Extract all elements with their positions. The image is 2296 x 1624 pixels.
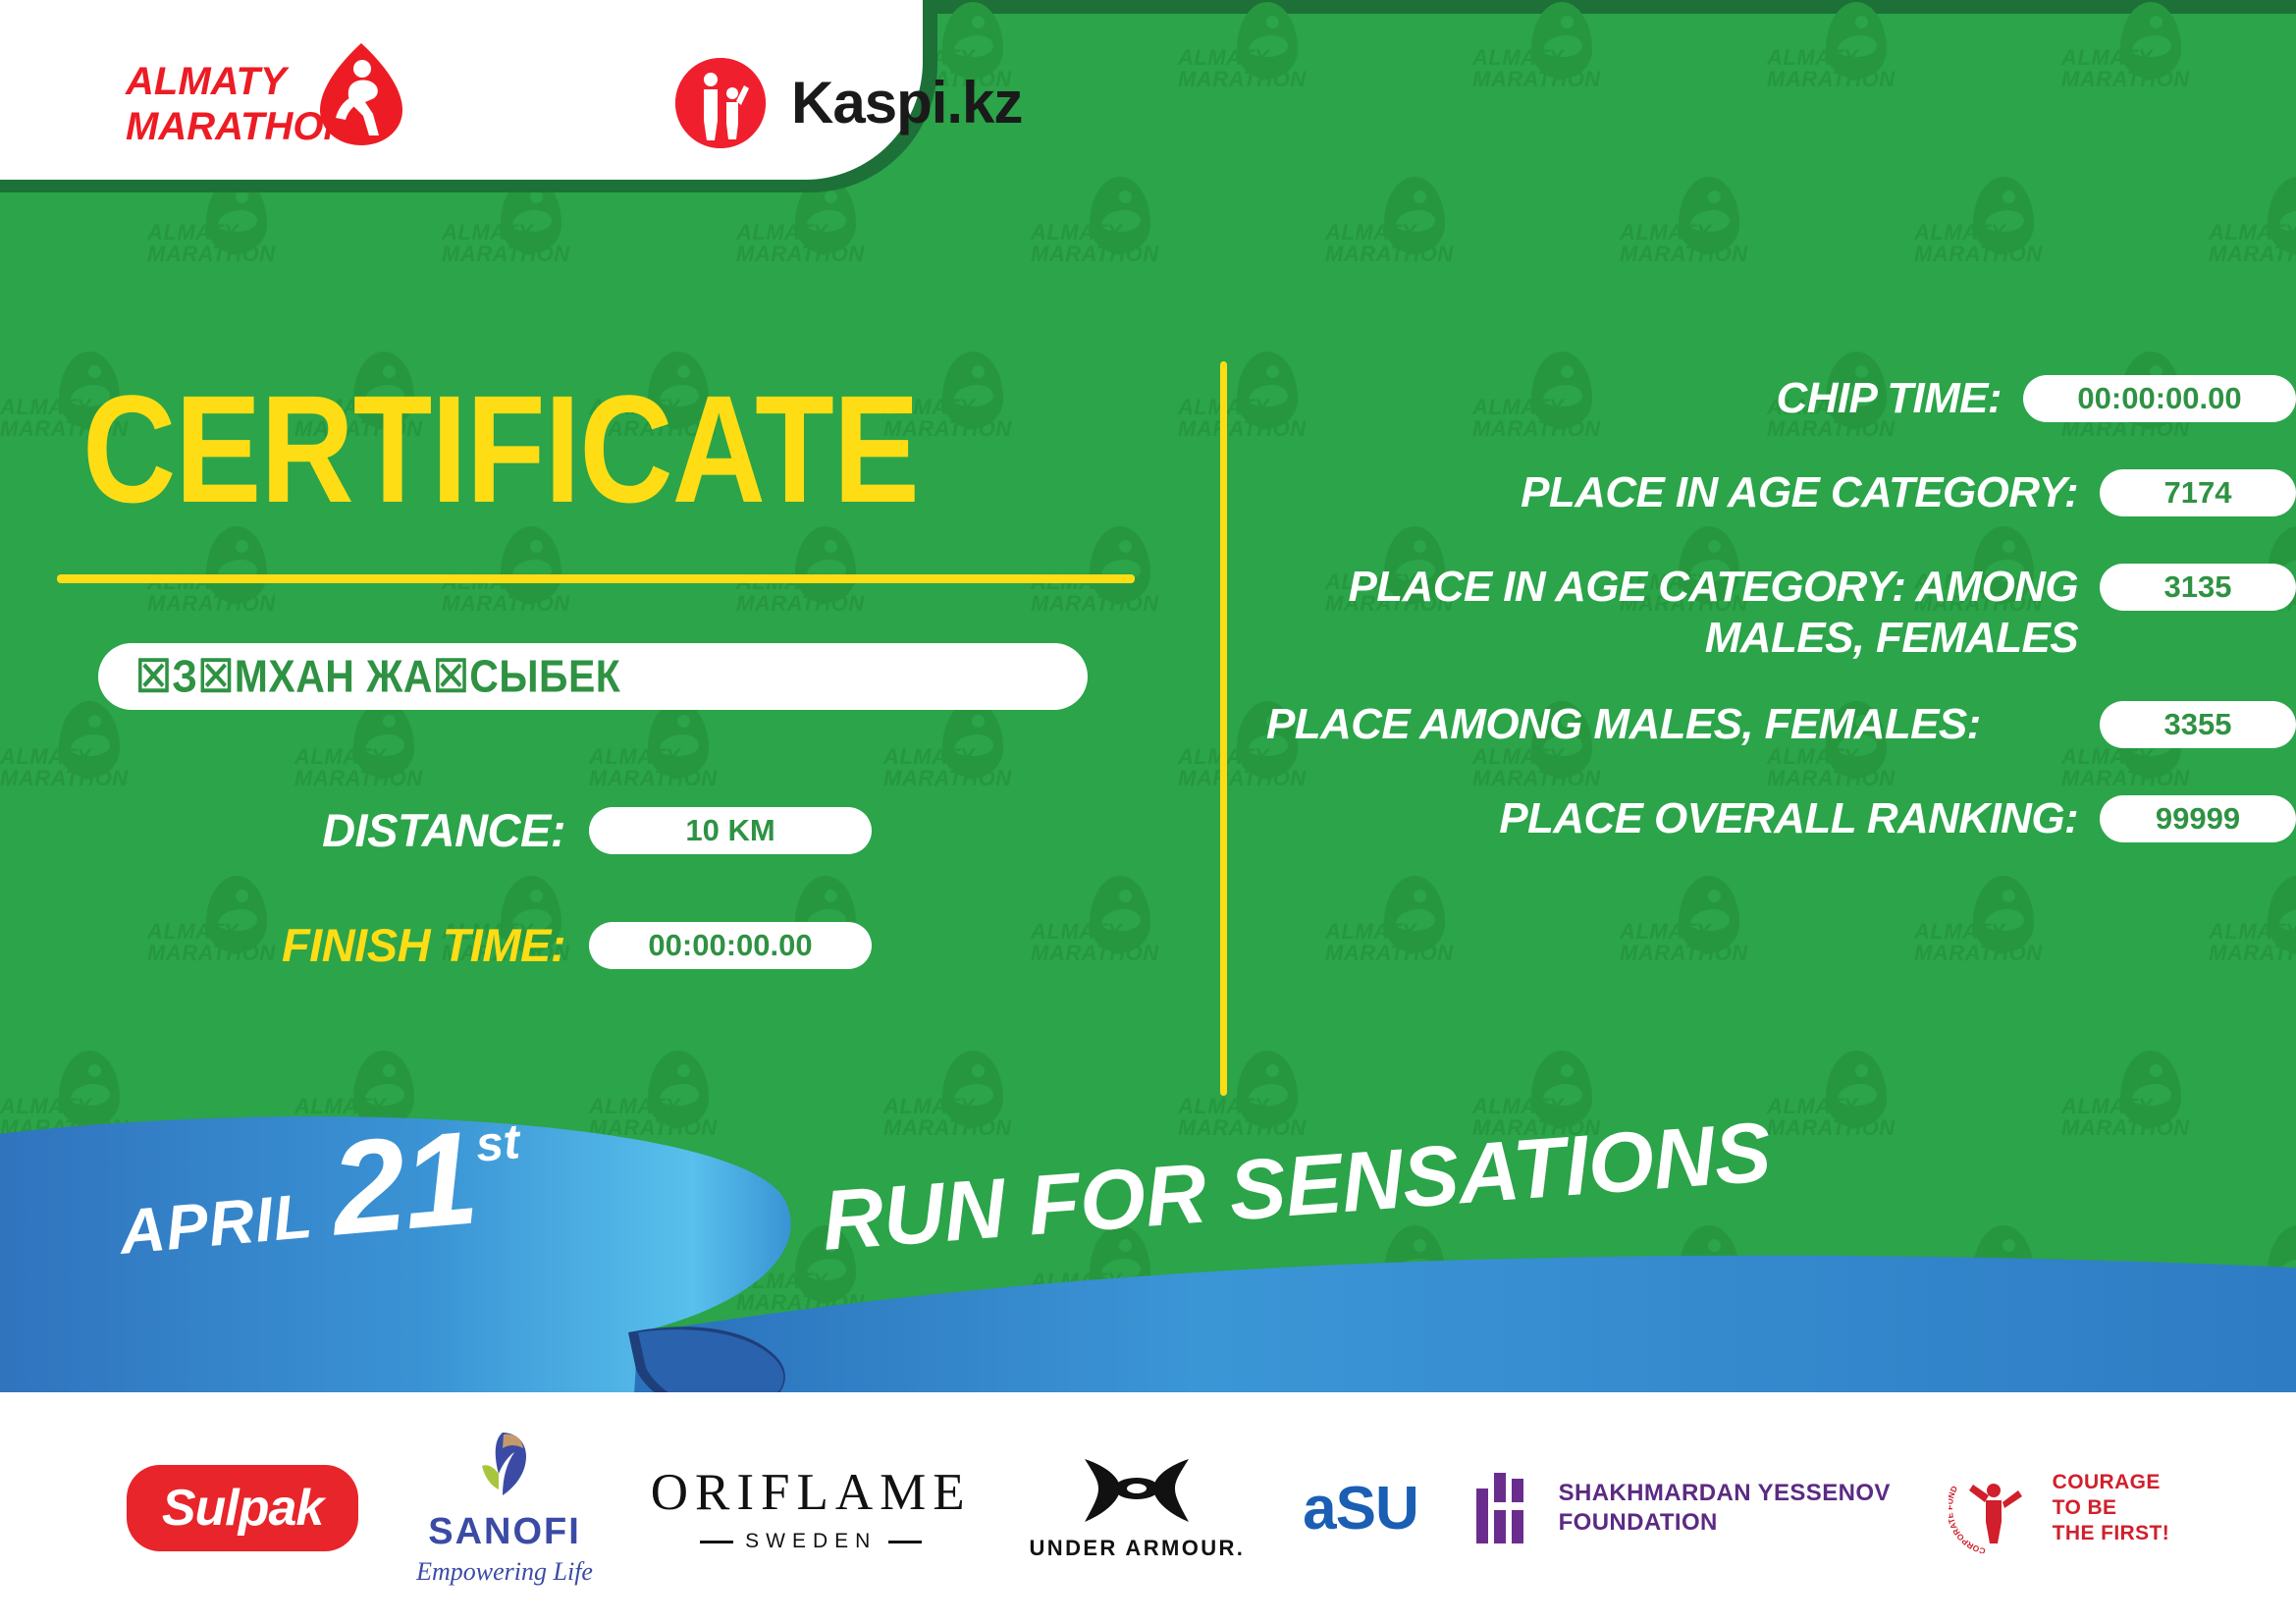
stat-row: PLACE AMONG MALES, FEMALES:3355 [1266, 699, 2296, 758]
stat-value: 99999 [2156, 801, 2240, 837]
sponsor-oriflame[interactable]: ORIFLAME SWEDEN [651, 1463, 972, 1553]
courage-line2: TO BE [2053, 1495, 2170, 1521]
stat-value: 00:00:00.00 [2077, 381, 2241, 416]
courage-child-icon: CORPORATE FUND [1949, 1463, 2039, 1553]
oriflame-sub: SWEDEN [700, 1530, 922, 1553]
yessenov-text: SHAKHMARDAN YESSENOV FOUNDATION [1559, 1479, 1891, 1538]
sponsor-sulpak[interactable]: Sulpak [127, 1465, 359, 1551]
oriflame-rule-left [700, 1541, 733, 1543]
under-armour-text: UNDER ARMOUR. [1030, 1536, 1246, 1561]
participant-name-value: ☒З☒МХАН ЖА☒СЫБЕК [135, 650, 620, 703]
stat-label: CHIP TIME: [1266, 373, 2023, 424]
oriflame-logo-text: ORIFLAME [651, 1463, 972, 1522]
under-armour-icon [1079, 1455, 1195, 1526]
participant-name-field[interactable]: ☒З☒МХАН ЖА☒СЫБЕК [98, 643, 1088, 710]
event-day-suffix: st [473, 1112, 521, 1173]
courage-text: COURAGE TO BE THE FIRST! [2053, 1470, 2170, 1546]
finish-time-label: FINISH TIME: [265, 918, 565, 972]
stat-value-pill[interactable]: 3355 [2100, 701, 2296, 748]
stat-label: PLACE OVERALL RANKING: [1266, 793, 2100, 844]
finish-time-row: FINISH TIME: 00:00:00.00 [265, 918, 872, 972]
sulpak-logo-text: Sulpak [162, 1479, 324, 1538]
stat-value-pill[interactable]: 99999 [2100, 795, 2296, 842]
stat-row: PLACE IN AGE CATEGORY: AMONG MALES, FEMA… [1266, 562, 2296, 664]
sponsor-sanofi[interactable]: SANOFI Empowering Life [416, 1431, 593, 1587]
sponsor-under-armour[interactable]: UNDER ARMOUR. [1030, 1455, 1246, 1561]
stat-value: 7174 [2164, 475, 2232, 511]
event-month: APRIL [117, 1179, 316, 1269]
event-day: 21 [326, 1110, 480, 1255]
sanofi-logo-text: SANOFI [428, 1511, 581, 1553]
distance-row: DISTANCE: 10 KM [265, 803, 872, 857]
stat-label: PLACE IN AGE CATEGORY: [1266, 467, 2100, 518]
yessenov-line2: FOUNDATION [1559, 1508, 1891, 1538]
stat-row: CHIP TIME:00:00:00.00 [1266, 373, 2296, 432]
finish-time-value-pill[interactable]: 00:00:00.00 [589, 922, 872, 969]
distance-label: DISTANCE: [265, 803, 565, 857]
stat-value: 3355 [2164, 707, 2232, 742]
results-stats-column: CHIP TIME:00:00:00.00PLACE IN AGE CATEGO… [1266, 373, 2296, 888]
stat-value-pill[interactable]: 7174 [2100, 469, 2296, 516]
certificate-canvas: ALMATYMARATHONALMATYMARATHONALMATYMARATH… [0, 0, 2296, 1624]
page-title: CERTIFICATE [82, 373, 919, 526]
asu-logo-text: aSU [1303, 1474, 1418, 1543]
stat-value: 3135 [2164, 569, 2232, 605]
stat-label: PLACE IN AGE CATEGORY: AMONG MALES, FEMA… [1266, 562, 2100, 664]
yessenov-line1: SHAKHMARDAN YESSENOV [1559, 1479, 1891, 1508]
stat-row: PLACE OVERALL RANKING:99999 [1266, 793, 2296, 852]
sanofi-bird-icon [477, 1431, 532, 1505]
title-underline [57, 574, 1135, 583]
stat-value-pill[interactable]: 00:00:00.00 [2023, 375, 2296, 422]
courage-line1: COURAGE [2053, 1470, 2170, 1495]
stat-value-pill[interactable]: 3135 [2100, 564, 2296, 611]
distance-value: 10 KM [685, 813, 774, 848]
sponsor-asu[interactable]: aSU [1303, 1474, 1418, 1543]
stat-label: PLACE AMONG MALES, FEMALES: [1266, 699, 2100, 750]
finish-time-value: 00:00:00.00 [648, 928, 812, 963]
stat-row: PLACE IN AGE CATEGORY:7174 [1266, 467, 2296, 526]
courage-line3: THE FIRST! [2053, 1521, 2170, 1546]
oriflame-tagline: SWEDEN [745, 1530, 877, 1553]
yessenov-bars-icon [1476, 1473, 1537, 1543]
oriflame-rule-right [888, 1541, 922, 1543]
distance-value-pill[interactable]: 10 KM [589, 807, 872, 854]
column-divider [1220, 361, 1227, 1096]
sponsor-yessenov-foundation[interactable]: SHAKHMARDAN YESSENOV FOUNDATION [1476, 1473, 1891, 1543]
sponsor-bar: Sulpak SANOFI Empowering Life ORIFLAME S… [0, 1392, 2296, 1624]
sanofi-tagline: Empowering Life [416, 1557, 593, 1587]
sponsor-courage-fund[interactable]: CORPORATE FUND COURAGE TO BE THE FIRST! [1949, 1463, 2170, 1553]
